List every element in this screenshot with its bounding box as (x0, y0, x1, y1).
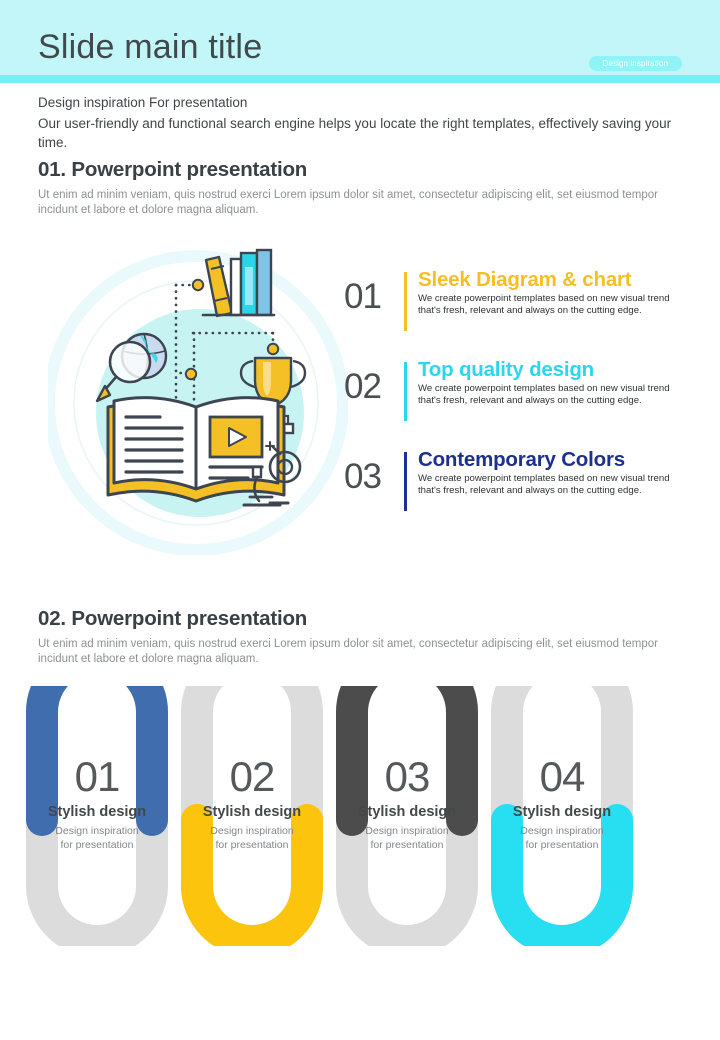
feature-description: We create powerpoint templates based on … (418, 383, 680, 408)
intro-subtitle: Design inspiration For presentation (38, 93, 698, 112)
books-stack-icon (203, 250, 274, 316)
header-badge: Design inspiration (589, 56, 682, 71)
feature-accent-bar (404, 362, 407, 421)
feature-item-02[interactable]: 02 Top quality design We create powerpoi… (344, 358, 700, 448)
feature-number: 01 (344, 268, 404, 314)
feature-title: Sleek Diagram & chart (418, 268, 700, 291)
section-1-subtext: Ut enim ad minim veniam, quis nostrud ex… (38, 188, 668, 218)
feature-list: 01 Sleek Diagram & chart We create power… (344, 268, 700, 538)
section-2-subtext: Ut enim ad minim veniam, quis nostrud ex… (38, 637, 668, 667)
pill-ring-diagram: 01 Stylish design Design inspiration for… (24, 686, 696, 946)
connector-node-trophy (268, 344, 278, 354)
header-badge-label: Design inspiration (603, 59, 668, 68)
feature-title: Contemporary Colors (418, 448, 700, 471)
section-2-heading: 02. Powerpoint presentation (38, 607, 307, 631)
intro-description: Our user-friendly and functional search … (38, 114, 698, 152)
header-accent-stripe (0, 75, 720, 83)
connector-node-books (193, 280, 203, 290)
feature-accent-bar (404, 272, 407, 331)
play-button-icon (210, 417, 262, 457)
feature-accent-bar (404, 452, 407, 511)
intro-block: Design inspiration For presentation Our … (38, 93, 698, 152)
feature-item-01[interactable]: 01 Sleek Diagram & chart We create power… (344, 268, 700, 358)
education-illustration (48, 245, 348, 555)
feature-number: 03 (344, 448, 404, 494)
connector-node-search (186, 369, 196, 379)
feature-number: 02 (344, 358, 404, 404)
feature-item-03[interactable]: 03 Contemporary Colors We create powerpo… (344, 448, 700, 538)
feature-description: We create powerpoint templates based on … (418, 473, 680, 498)
open-book-icon (108, 398, 284, 501)
feature-description: We create powerpoint templates based on … (418, 293, 680, 318)
section-1-heading: 01. Powerpoint presentation (38, 158, 307, 182)
page-title: Slide main title (38, 28, 262, 67)
feature-title: Top quality design (418, 358, 700, 381)
